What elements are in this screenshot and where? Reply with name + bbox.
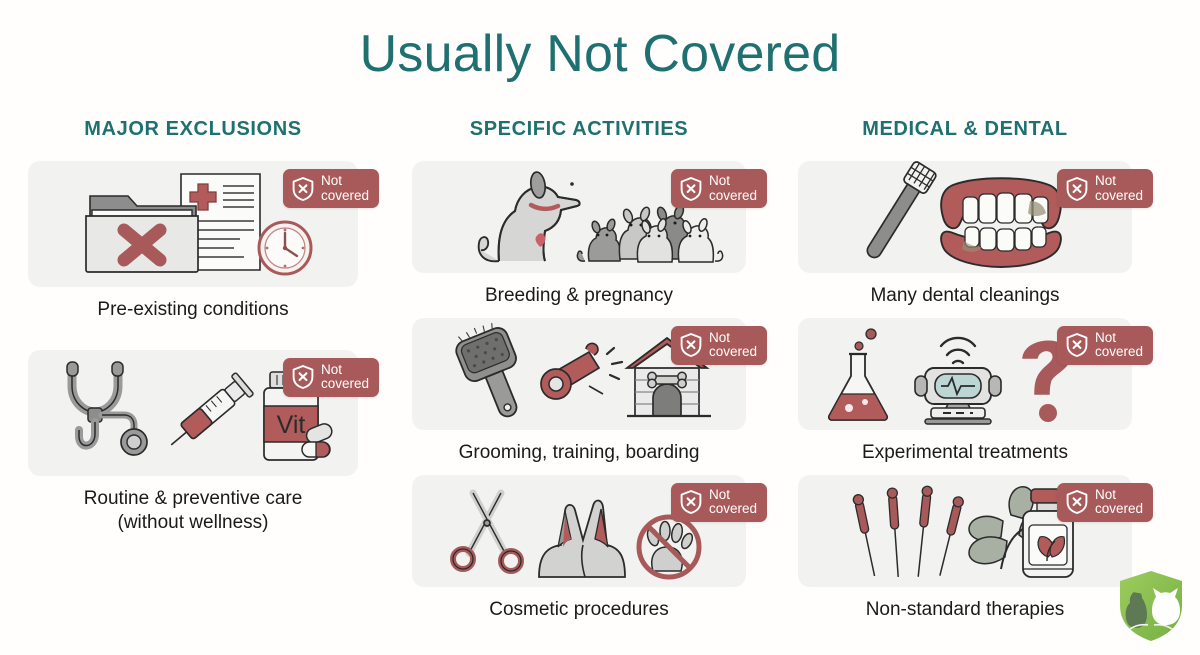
illustration-card-pre-existing-conditions: Not covered — [28, 161, 358, 287]
item-caption: Routine & preventive care (without welln… — [84, 487, 303, 535]
not-covered-badge: Not covered — [671, 326, 767, 365]
pet-shield-logo — [1112, 567, 1190, 645]
toothbrush-icon — [860, 161, 938, 264]
columns-container: MAJOR EXCLUSIONS — [0, 118, 1200, 621]
dentures-icon — [941, 178, 1061, 267]
illustration-card-cosmetic-procedures: Not covered — [412, 475, 746, 587]
sound-lines-icon — [607, 348, 622, 379]
syringe-icon — [162, 372, 254, 455]
item-caption: Cosmetic procedures — [489, 598, 669, 622]
not-covered-badge-label: Not covered — [1095, 174, 1143, 203]
column-heading-medical-dental: MEDICAL & DENTAL — [862, 118, 1068, 141]
illustration-card-experimental-treatments: Not covered — [798, 318, 1132, 430]
robot-monitor-icon — [915, 338, 1001, 424]
item-caption: Experimental treatments — [862, 441, 1068, 465]
exclusion-item[interactable]: Not covered Cosmetic procedures — [412, 475, 746, 622]
shield-x-icon — [679, 489, 703, 515]
item-caption: Grooming, training, boarding — [459, 441, 700, 465]
page-title: Usually Not Covered — [0, 26, 1200, 83]
shield-x-icon — [679, 332, 703, 358]
exclusion-item[interactable]: Not covered Non-standard therapies — [798, 475, 1132, 622]
folder-icon — [86, 196, 198, 272]
illustration-card-routine-preventive-care: Vit — [28, 350, 358, 476]
svg-text:Vit: Vit — [277, 411, 306, 439]
exclusion-item[interactable]: Not covered Many dental cleanings — [798, 161, 1132, 308]
not-covered-badge-label: Not covered — [709, 331, 757, 360]
no-declaw-icon — [639, 517, 699, 577]
column-major-exclusions: MAJOR EXCLUSIONS — [0, 118, 386, 621]
shield-x-icon — [1065, 332, 1089, 358]
column-heading-major-exclusions: MAJOR EXCLUSIONS — [84, 118, 301, 141]
exclusion-item[interactable]: Not covered Grooming, training, boarding — [412, 318, 746, 465]
shield-x-icon — [291, 176, 315, 202]
mother-dog-icon — [479, 171, 580, 261]
illustration-card-grooming-training-boarding: Not covered — [412, 318, 746, 430]
slide-root: Usually Not Covered MAJOR EXCLUSIONS — [0, 0, 1200, 655]
shield-x-icon — [1065, 176, 1089, 202]
not-covered-badge: Not covered — [1057, 483, 1153, 522]
cat-silhouette-icon — [1152, 588, 1180, 625]
column-medical-dental: MEDICAL & DENTAL — [772, 118, 1158, 621]
ear-crop-icon — [539, 500, 625, 577]
clock-icon — [259, 222, 311, 274]
not-covered-badge: Not covered — [283, 358, 379, 397]
acupuncture-needles-icon — [852, 485, 964, 577]
illustration-card-dental-cleanings: Not covered — [798, 161, 1132, 273]
column-specific-activities: SPECIFIC ACTIVITIES — [386, 118, 772, 621]
exclusion-item[interactable]: Vit — [28, 350, 358, 535]
item-caption: Many dental cleanings — [870, 284, 1059, 308]
illustration-card-breeding-pregnancy: Not covered — [412, 161, 746, 273]
not-covered-badge-label: Not covered — [1095, 488, 1143, 517]
not-covered-badge-label: Not covered — [321, 174, 369, 203]
shield-x-icon — [1065, 489, 1089, 515]
not-covered-badge: Not covered — [671, 483, 767, 522]
exclusion-item[interactable]: Not covered Breeding & pregnancy — [412, 161, 746, 308]
not-covered-badge: Not covered — [1057, 169, 1153, 208]
item-caption: Non-standard therapies — [866, 598, 1065, 622]
flask-icon — [829, 329, 887, 420]
not-covered-badge-label: Not covered — [321, 363, 369, 392]
scissors-icon — [453, 493, 521, 571]
puppies-icon — [577, 204, 722, 262]
not-covered-badge-label: Not covered — [709, 488, 757, 517]
shield-x-icon — [679, 176, 703, 202]
not-covered-badge-label: Not covered — [709, 174, 757, 203]
not-covered-badge: Not covered — [671, 169, 767, 208]
not-covered-badge-label: Not covered — [1095, 331, 1143, 360]
grooming-brush-icon — [450, 317, 536, 425]
column-heading-specific-activities: SPECIFIC ACTIVITIES — [470, 118, 688, 141]
exclusion-item[interactable]: Not covered Experimental treatments — [798, 318, 1132, 465]
wifi-icon — [941, 338, 975, 363]
exclusion-item[interactable]: Not covered Pre-existing conditions — [28, 161, 358, 322]
item-caption: Breeding & pregnancy — [485, 284, 673, 308]
not-covered-badge: Not covered — [283, 169, 379, 208]
illustration-card-non-standard-therapies: Not covered — [798, 475, 1132, 587]
item-caption: Pre-existing conditions — [97, 298, 288, 322]
shield-x-icon — [291, 364, 315, 390]
not-covered-badge: Not covered — [1057, 326, 1153, 365]
stethoscope-icon — [67, 362, 147, 455]
whistle-icon — [541, 343, 622, 399]
